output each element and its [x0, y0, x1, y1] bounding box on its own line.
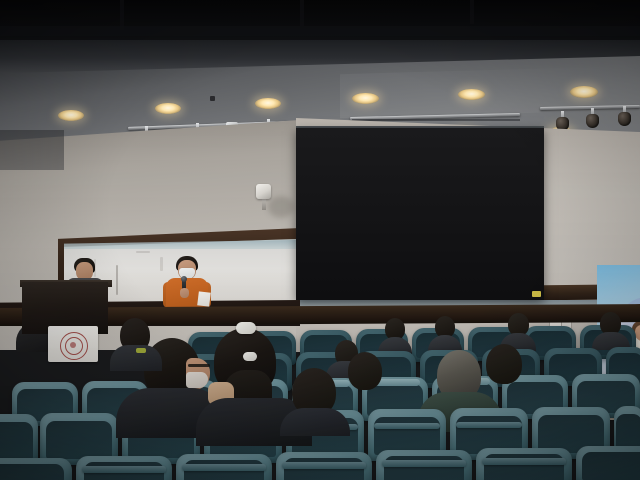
hair-tie — [243, 352, 257, 361]
presenter-notes — [197, 291, 211, 306]
face-mask — [186, 372, 208, 388]
audience-mid-left — [348, 352, 382, 390]
seat-armrest — [482, 458, 566, 465]
recessed-light — [155, 103, 181, 114]
seat[interactable] — [576, 446, 640, 480]
seat-armrest — [182, 464, 266, 471]
audience-front-center-shoulders — [280, 408, 350, 436]
wall-left-shadow — [0, 130, 64, 170]
seat-armrest — [82, 466, 166, 473]
auditorium-photo: + + ? 03 小組分享 建立溝通平台 — [0, 0, 640, 480]
seat-armrest — [282, 462, 366, 469]
lanyard-accent — [136, 348, 146, 353]
security-camera — [256, 184, 271, 199]
camera-shadow — [268, 196, 294, 218]
seat-armrest — [456, 422, 522, 428]
hair-scrunchie — [236, 322, 256, 334]
projection-screen: + + ? 03 小組分享 建立溝通平台 — [296, 128, 544, 300]
seat-armrest — [374, 423, 440, 429]
eyeglasses-icon — [188, 364, 210, 367]
recessed-light — [58, 110, 84, 121]
recessed-light — [570, 86, 598, 98]
screen-corner-tag — [532, 291, 541, 297]
recessed-light — [255, 98, 281, 109]
ceiling-vent — [210, 96, 215, 101]
institution-crest-icon — [60, 332, 88, 360]
recessed-light — [458, 89, 485, 100]
microphone-head-icon — [181, 276, 187, 282]
recessed-light — [352, 93, 379, 104]
seat[interactable] — [0, 458, 72, 480]
audience-mid-right — [486, 344, 522, 384]
presenter-hand — [180, 288, 189, 298]
seat-armrest — [382, 460, 466, 467]
ceiling-seam — [352, 119, 520, 121]
